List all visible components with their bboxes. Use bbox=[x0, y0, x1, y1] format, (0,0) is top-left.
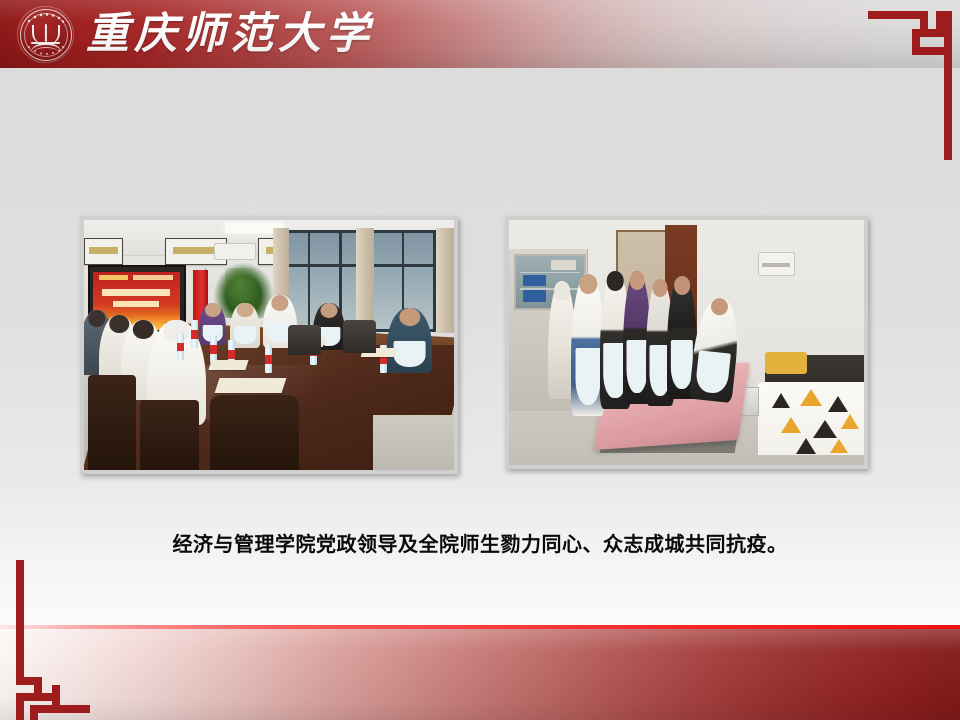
header-banner: 重庆师范大学 bbox=[0, 0, 960, 68]
chinese-key-pattern-icon bbox=[850, 0, 960, 160]
presentation-slide: 重庆师范大学 bbox=[0, 0, 960, 720]
university-seal-icon bbox=[17, 6, 74, 63]
slide-caption: 经济与管理学院党政领导及全院师生勠力同心、众志成城共同抗疫。 bbox=[0, 528, 960, 557]
bedding bbox=[758, 382, 865, 456]
wall-certificate bbox=[84, 238, 123, 265]
university-title: 重庆师范大学 bbox=[86, 2, 374, 66]
top-right-corner-ornament bbox=[850, 0, 960, 160]
meeting-room-photo[interactable] bbox=[80, 216, 458, 474]
footer-band-gloss bbox=[0, 629, 960, 720]
dormitory-inspection-photo[interactable] bbox=[505, 216, 868, 469]
air-conditioner bbox=[214, 243, 257, 260]
wall-unit bbox=[758, 252, 796, 276]
person bbox=[387, 308, 431, 373]
chinese-key-pattern-icon bbox=[0, 560, 110, 720]
bottom-left-corner-ornament bbox=[0, 560, 110, 720]
